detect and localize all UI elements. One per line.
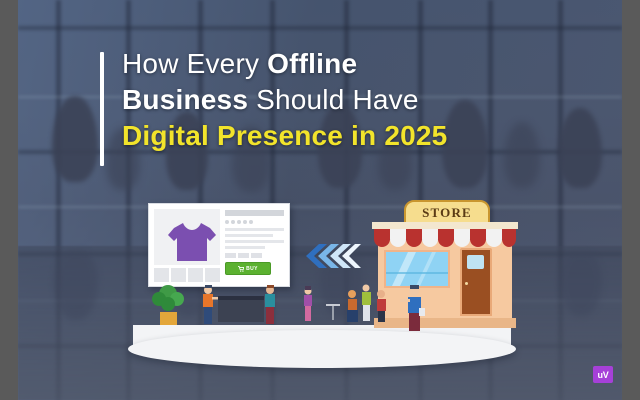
product-page-mockup[interactable]: BUY [148,203,290,287]
headline-line-2-plain: Should Have [248,84,419,115]
promo-graphic: How Every Offline Business Should Have D… [0,0,640,400]
letterbox-right [622,0,640,400]
variant-chip[interactable] [238,253,249,258]
headline-line-1-bold: Offline [267,48,357,79]
headline-line-2-bold: Business [122,84,248,115]
text-placeholder-line [225,240,284,243]
person-near-store [398,284,434,332]
store-door[interactable] [460,248,492,316]
product-thumbnail[interactable] [154,268,169,282]
window-band [18,26,622,30]
product-thumbnail-row[interactable] [154,268,220,282]
text-placeholder-line [225,234,273,237]
product-title-placeholder [225,210,284,216]
foreground-characters [150,282,390,336]
accent-bar [100,52,104,166]
window-shine [386,252,448,286]
door-knob [465,282,468,285]
store-window [384,250,450,288]
person-teal [265,285,275,324]
product-thumbnail[interactable] [171,268,186,282]
product-detail-panel: BUY [225,210,284,275]
star-icon [237,220,241,224]
person-seated-navy [347,290,358,322]
person-olive [362,285,371,322]
headline-line-2: Business Should Have [100,82,520,118]
watermark-logo: uV [593,366,613,383]
person-red [377,290,386,322]
floor-reflection [560,252,602,316]
storefront-illustration: STORE [372,200,518,332]
rating-stars[interactable] [225,220,284,224]
variant-chips[interactable] [225,253,284,258]
text-placeholder-line [225,246,265,249]
buy-button-label: BUY [246,266,258,272]
door-window [467,255,484,269]
store-awning [372,222,518,252]
potted-plant-icon [152,285,184,325]
headline-line-1-plain: How Every [122,48,267,79]
store-base [374,318,516,328]
letterbox-left [0,0,18,400]
star-icon [225,220,229,224]
tshirt-icon [166,221,218,263]
cafe-table [326,304,340,306]
watermark-text: uV [598,370,609,380]
headline-block: How Every Offline Business Should Have D… [100,46,520,154]
floor-reflection [54,250,98,320]
product-thumbnail[interactable] [188,268,203,282]
star-icon [249,220,253,224]
window-band [18,206,622,208]
star-icon [243,220,247,224]
product-thumbnail[interactable] [205,268,220,282]
variant-chip[interactable] [251,253,262,258]
headline-line-1: How Every Offline [100,46,520,82]
headline-line-3: Digital Presence in 2025 [100,118,520,154]
variant-chip[interactable] [225,253,236,258]
star-icon [231,220,235,224]
store-sign-text: STORE [422,205,472,221]
person-purple [304,286,312,321]
cart-icon [238,266,244,272]
product-image-frame [154,209,220,265]
window-glass [386,252,448,286]
transition-arrows [305,243,361,269]
text-placeholder-line [225,228,284,231]
buy-button[interactable]: BUY [225,262,271,275]
